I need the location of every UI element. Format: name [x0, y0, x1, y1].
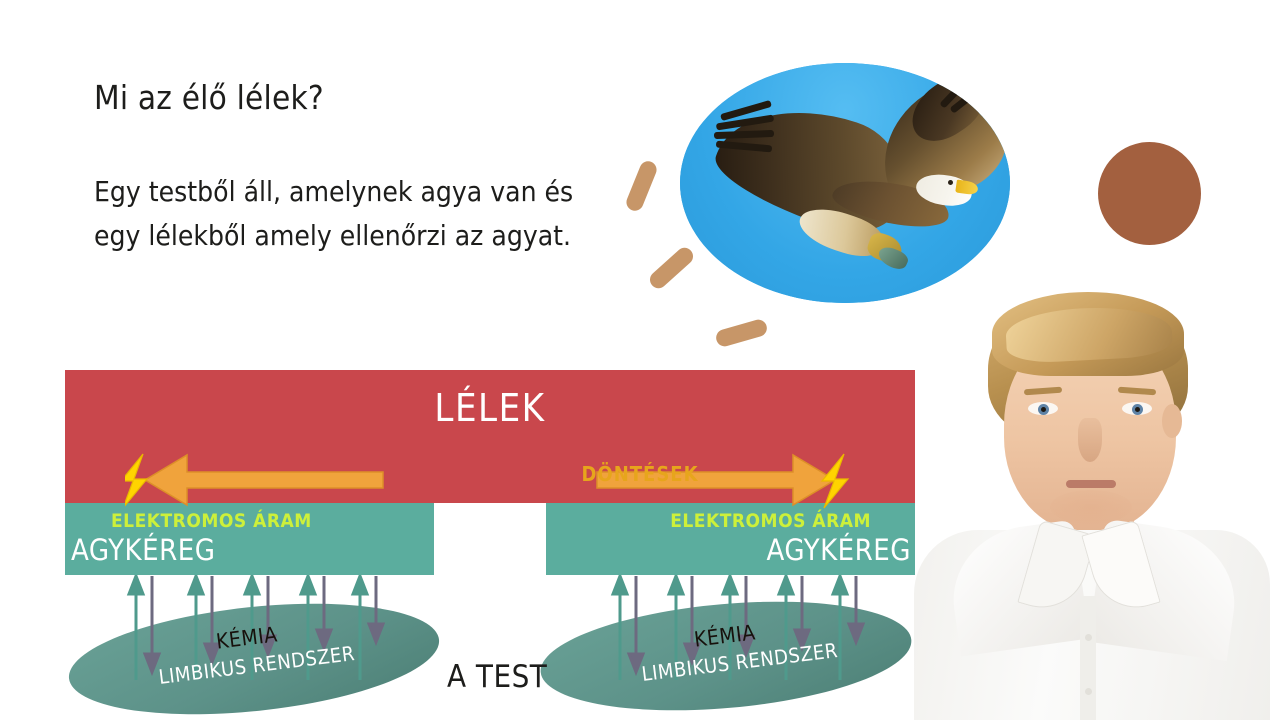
shirt-button — [1085, 634, 1092, 641]
slide-canvas: Mi az élő lélek? Egy testből áll, amelyn… — [0, 0, 1280, 720]
dash-decoration-icon — [624, 159, 659, 214]
decisions-label: DÖNTÉSEK — [0, 462, 1280, 486]
cortex-panel-left: ELEKTROMOS ÁRAM AGYKÉREG — [65, 503, 434, 575]
cortex-label-right: AGYKÉREG — [767, 533, 911, 567]
electric-current-label-left: ELEKTROMOS ÁRAM — [111, 510, 312, 532]
brown-circle-decoration — [1098, 142, 1201, 245]
person-nose — [1078, 418, 1102, 462]
cortex-label-left: AGYKÉREG — [71, 533, 215, 567]
person-chin — [1050, 490, 1132, 524]
eagle-photo — [680, 63, 1010, 303]
person-photo — [900, 278, 1280, 720]
person-pupil — [1041, 407, 1046, 412]
person-pupil — [1135, 407, 1140, 412]
page-title: Mi az élő lélek? — [94, 78, 654, 117]
shirt-button — [1085, 688, 1092, 695]
cortex-panel-right: ELEKTROMOS ÁRAM AGYKÉREG — [546, 503, 915, 575]
slide-body-text: Egy testből áll, amelynek agya van és eg… — [94, 170, 594, 258]
soul-label: LÉLEK — [65, 386, 915, 430]
electric-current-label-right: ELEKTROMOS ÁRAM — [670, 510, 871, 532]
eagle-eye — [948, 180, 953, 185]
body-label: A TEST — [447, 659, 547, 695]
dash-decoration-icon — [714, 318, 769, 349]
person-ear — [1162, 404, 1182, 438]
person-shirt-placket — [1080, 596, 1096, 720]
